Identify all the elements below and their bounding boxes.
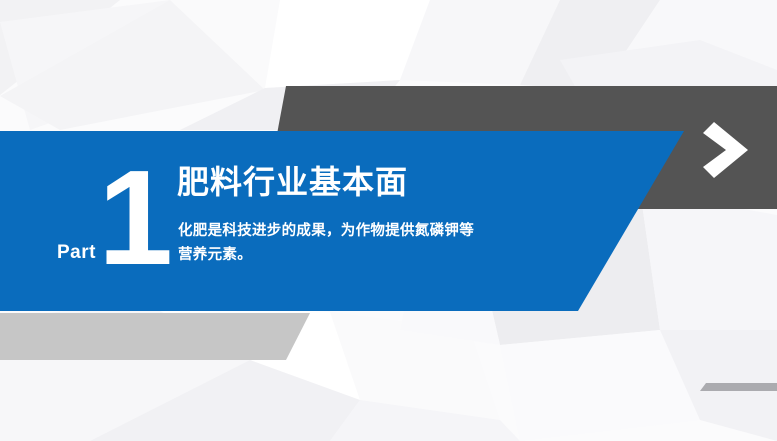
slide-canvas: Part 1 肥料行业基本面 化肥是科技进步的成果，为作物提供氮磷钾等营养元素。 — [0, 0, 777, 441]
page-title: 肥料行业基本面 — [177, 164, 408, 201]
part-number: 1 — [98, 150, 171, 285]
part-label: Part — [57, 243, 96, 262]
slide-subtitle: 化肥是科技进步的成果，为作物提供氮磷钾等营养元素。 — [178, 220, 488, 268]
slide-text-layer: Part 1 肥料行业基本面 化肥是科技进步的成果，为作物提供氮磷钾等营养元素。 — [0, 0, 777, 441]
